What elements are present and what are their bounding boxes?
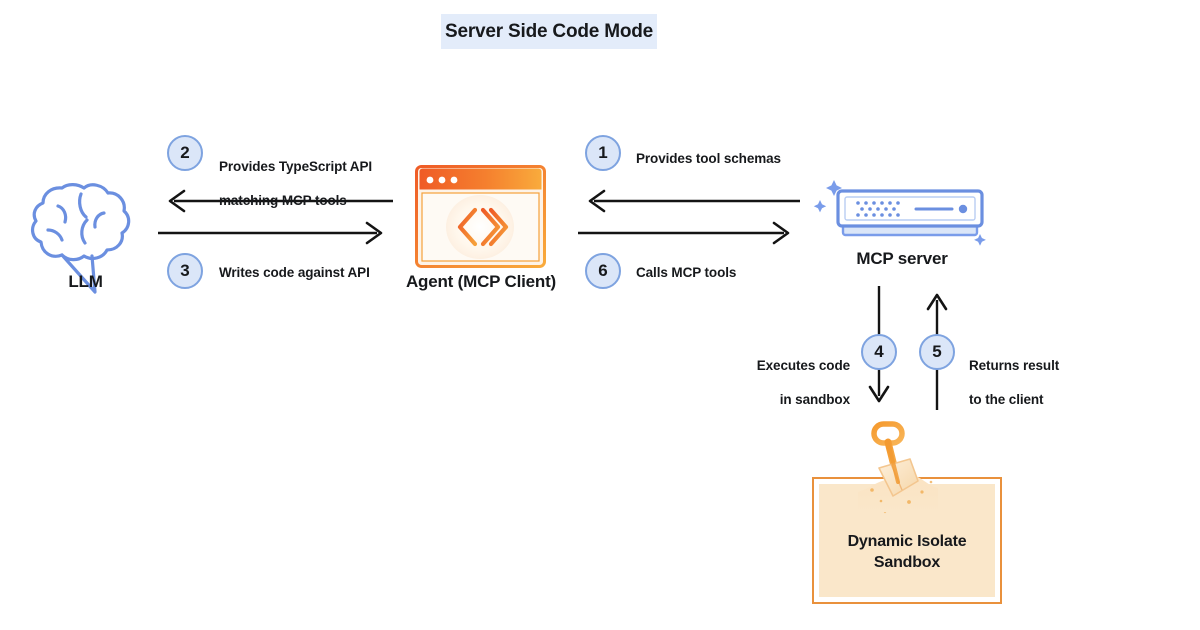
step-caption-5: Returns result to the client [969, 340, 1129, 408]
step-badge-5[interactable]: 5 [919, 334, 955, 370]
step-caption-5-line2: to the client [969, 392, 1043, 407]
step-caption-4-line2: in sandbox [780, 392, 850, 407]
browser-window-icon [415, 165, 546, 268]
step-badge-3[interactable]: 3 [167, 253, 203, 289]
step-badge-6[interactable]: 6 [585, 253, 621, 289]
arrow-llm-to-agent [158, 222, 393, 244]
llm-label: LLM [18, 272, 153, 292]
arrow-agent-to-server [578, 222, 800, 244]
page-title: Server Side Code Mode [441, 14, 657, 49]
step-caption-2-line1: Provides TypeScript API [219, 159, 372, 174]
step-caption-1: Provides tool schemas [636, 150, 836, 167]
step-caption-2: Provides TypeScript API matching MCP too… [219, 141, 409, 209]
step-caption-6: Calls MCP tools [636, 264, 836, 281]
mcp-server-label: MCP server [812, 249, 992, 269]
step-caption-4-line1: Executes code [757, 358, 850, 373]
sandbox-label: Dynamic Isolate Sandbox [819, 531, 995, 573]
step-badge-1[interactable]: 1 [585, 135, 621, 171]
step-caption-3: Writes code against API [219, 264, 419, 281]
step-badge-4[interactable]: 4 [861, 334, 897, 370]
arrow-server-to-agent [578, 190, 800, 212]
step-caption-5-line1: Returns result [969, 358, 1059, 373]
sandbox-label-line2: Sandbox [874, 554, 940, 571]
sandbox-label-line1: Dynamic Isolate [848, 533, 967, 550]
step-caption-2-line2: matching MCP tools [219, 193, 347, 208]
server-rack-icon [812, 178, 992, 248]
step-badge-2[interactable]: 2 [167, 135, 203, 171]
step-caption-4: Executes code in sandbox [700, 340, 850, 408]
shovel-icon [852, 418, 942, 512]
